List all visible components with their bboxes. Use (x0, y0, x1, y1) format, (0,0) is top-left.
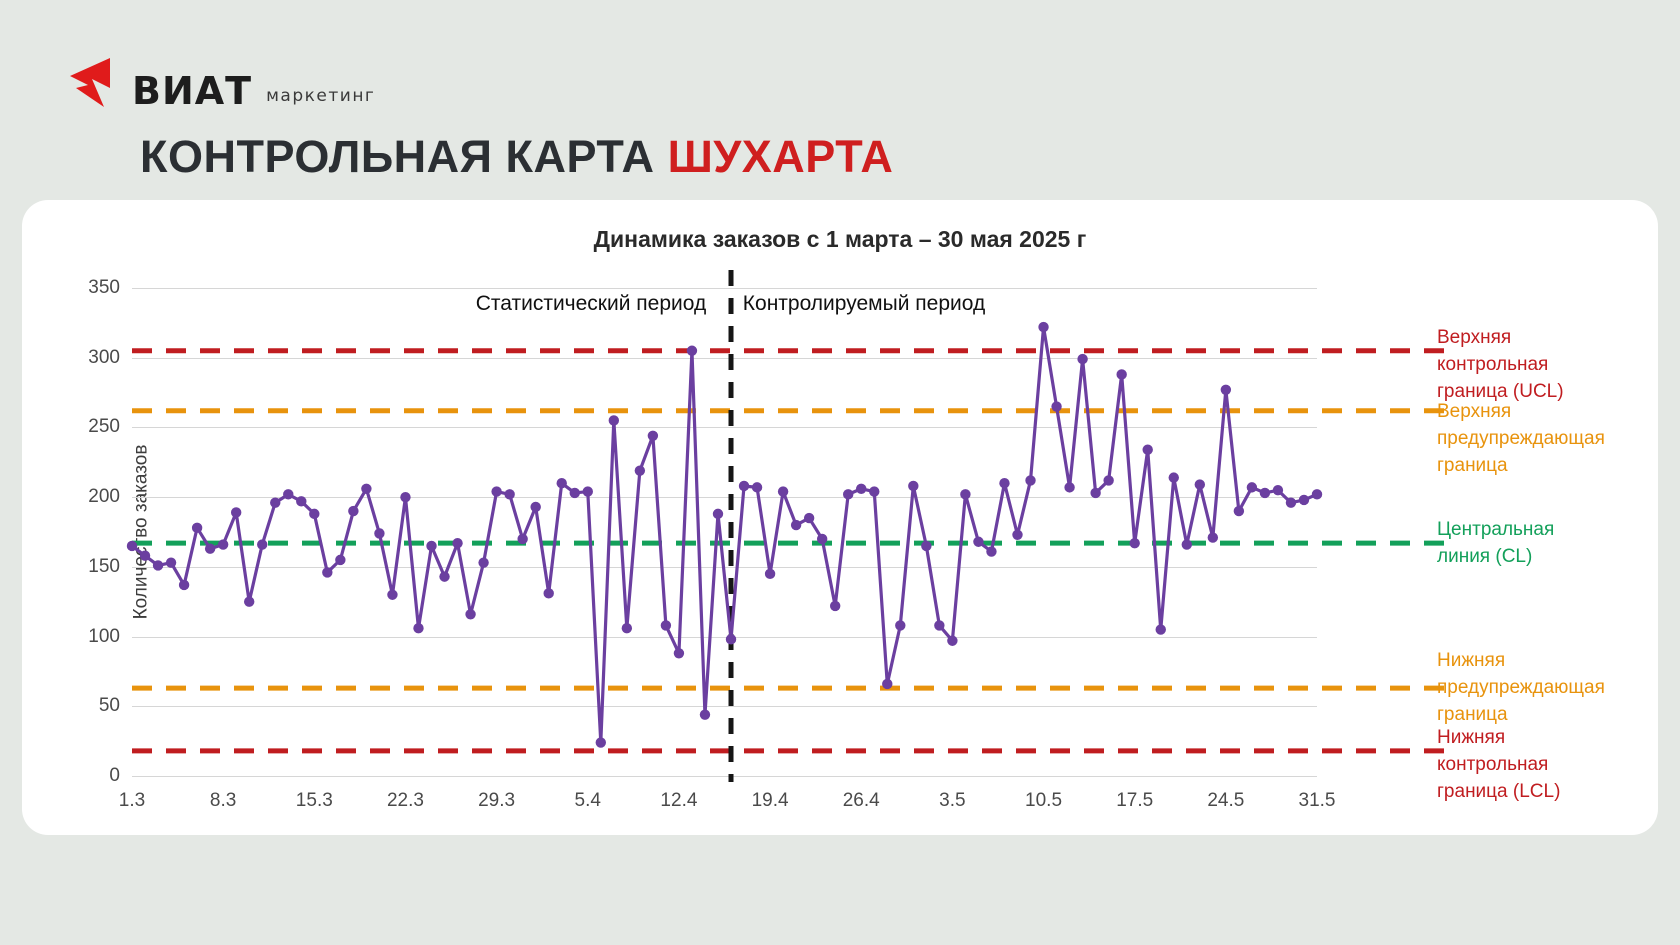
data-point (1299, 495, 1309, 505)
data-point (1143, 445, 1153, 455)
x-axis-tick: 3.5 (939, 790, 965, 812)
data-point (674, 648, 684, 658)
y-axis-tick: 350 (88, 277, 120, 299)
brand-logo: ВИАТ маркетинг (66, 58, 375, 114)
data-point (361, 484, 371, 494)
data-point (1312, 489, 1322, 499)
legend-lcl-line1: Нижняя (1437, 725, 1649, 752)
data-point (1182, 539, 1192, 549)
data-point (192, 523, 202, 533)
data-point (270, 498, 280, 508)
data-point (622, 623, 632, 633)
data-point (557, 478, 567, 488)
data-point (570, 488, 580, 498)
y-axis-tick: 0 (109, 765, 120, 787)
data-point (609, 415, 619, 425)
data-point (153, 560, 163, 570)
data-point (700, 709, 710, 719)
legend-lwl-line2: предупреждающая (1437, 675, 1649, 702)
data-point (1064, 482, 1074, 492)
x-axis-tick: 22.3 (387, 790, 424, 812)
x-axis-tick: 12.4 (660, 790, 697, 812)
data-point (544, 588, 554, 598)
data-point (296, 496, 306, 506)
data-point (166, 557, 176, 567)
legend-item-upper-warning: Верхняя предупреждающая граница (1437, 399, 1649, 480)
data-point (1156, 624, 1166, 634)
y-axis-tick: 200 (88, 486, 120, 508)
page-title-part1: КОНТРОЛЬНАЯ КАРТА (140, 131, 655, 182)
data-point (257, 539, 267, 549)
y-axis-tick: 300 (88, 347, 120, 369)
data-point (1273, 485, 1283, 495)
data-point (999, 478, 1009, 488)
data-point (244, 597, 254, 607)
data-point (504, 489, 514, 499)
data-point (465, 609, 475, 619)
data-point (348, 506, 358, 516)
data-point (127, 541, 137, 551)
x-axis-tick: 19.4 (752, 790, 789, 812)
data-point (908, 481, 918, 491)
data-point (335, 555, 345, 565)
data-point (439, 571, 449, 581)
data-point (426, 541, 436, 551)
data-point (231, 507, 241, 517)
legend-item-lower-warning: Нижняя предупреждающая граница (1437, 648, 1649, 729)
data-point (752, 482, 762, 492)
x-axis-tick: 5.4 (575, 790, 601, 812)
data-point (283, 489, 293, 499)
viat-arrow-logo-icon (66, 58, 126, 114)
x-axis-tick: 29.3 (478, 790, 515, 812)
data-point (452, 538, 462, 548)
legend-lwl-line1: Нижняя (1437, 648, 1649, 675)
data-point (374, 528, 384, 538)
data-point (1286, 498, 1296, 508)
legend-item-center-line: Центральная линия (CL) (1437, 517, 1649, 571)
data-point (1129, 538, 1139, 548)
legend-item-lcl: Нижняя контрольная граница (LCL) (1437, 725, 1649, 806)
data-point (322, 567, 332, 577)
data-point (921, 541, 931, 551)
brand-tagline: маркетинг (266, 86, 375, 106)
data-point (1234, 506, 1244, 516)
data-point (856, 484, 866, 494)
data-point (140, 551, 150, 561)
data-point (765, 569, 775, 579)
legend-cl-line1: Центральная (1437, 517, 1649, 544)
y-axis-tick: 100 (88, 626, 120, 648)
x-axis-tick: 8.3 (210, 790, 236, 812)
gridline (132, 776, 1317, 777)
data-point (1247, 482, 1257, 492)
data-point (309, 509, 319, 519)
data-point (869, 486, 879, 496)
x-axis-tick: 15.3 (296, 790, 333, 812)
chart-card: Динамика заказов с 1 марта – 30 мая 2025… (22, 200, 1658, 835)
data-point (478, 557, 488, 567)
data-point (1051, 401, 1061, 411)
data-point (739, 481, 749, 491)
control-chart-plot: Количество заказов Статистический период… (132, 288, 1317, 776)
data-point (1103, 475, 1113, 485)
slide-root: ВИАТ маркетинг КОНТРОЛЬНАЯ КАРТА ШУХАРТА… (0, 0, 1680, 945)
data-point (687, 346, 697, 356)
brand-name: ВИАТ (132, 72, 252, 110)
series-line-orders (132, 327, 1317, 742)
chart-title: Динамика заказов с 1 марта – 30 мая 2025… (22, 226, 1658, 253)
data-point (413, 623, 423, 633)
data-point (661, 620, 671, 630)
x-axis-tick: 24.5 (1207, 790, 1244, 812)
data-point (530, 502, 540, 512)
page-title: КОНТРОЛЬНАЯ КАРТА ШУХАРТА (140, 131, 893, 183)
data-point (387, 590, 397, 600)
data-point (1221, 385, 1231, 395)
data-point (1208, 532, 1218, 542)
data-point (934, 620, 944, 630)
data-point (1169, 472, 1179, 482)
data-point (986, 546, 996, 556)
data-point (179, 580, 189, 590)
data-point (218, 539, 228, 549)
data-point (830, 601, 840, 611)
legend-uwl-line1: Верхняя (1437, 399, 1649, 426)
data-point (1195, 479, 1205, 489)
x-axis-tick: 26.4 (843, 790, 880, 812)
data-point (791, 520, 801, 530)
data-point (1077, 354, 1087, 364)
data-point (713, 509, 723, 519)
legend-uwl-line2: предупреждающая (1437, 426, 1649, 453)
chart-canvas (132, 288, 1317, 776)
data-point (843, 489, 853, 499)
data-point (648, 431, 658, 441)
page-title-accent: ШУХАРТА (668, 131, 894, 182)
data-point (1260, 488, 1270, 498)
data-point (882, 679, 892, 689)
legend-uwl-line3: граница (1437, 453, 1649, 480)
y-axis-tick: 250 (88, 416, 120, 438)
x-axis-tick: 10.5 (1025, 790, 1062, 812)
data-point (726, 634, 736, 644)
data-point (400, 492, 410, 502)
data-point (635, 465, 645, 475)
data-point (517, 534, 527, 544)
x-axis-tick: 31.5 (1299, 790, 1336, 812)
x-axis-tick: 1.3 (119, 790, 145, 812)
data-point (947, 636, 957, 646)
legend-lcl-line3: граница (LCL) (1437, 779, 1649, 806)
legend-ucl-line1: Верхняя (1437, 325, 1649, 352)
legend-item-ucl: Верхняя контрольная граница (UCL) (1437, 325, 1649, 406)
data-point (1038, 322, 1048, 332)
data-point (778, 486, 788, 496)
data-point (804, 513, 814, 523)
data-point (491, 486, 501, 496)
legend-ucl-line2: контрольная (1437, 352, 1649, 379)
x-axis-tick: 17.5 (1116, 790, 1153, 812)
data-point (1116, 369, 1126, 379)
data-point (1090, 488, 1100, 498)
data-point (583, 486, 593, 496)
y-axis-tick: 150 (88, 556, 120, 578)
y-axis-tick: 50 (99, 695, 120, 717)
legend-cl-line2: линия (CL) (1437, 544, 1649, 571)
data-point (1025, 475, 1035, 485)
legend-lcl-line2: контрольная (1437, 752, 1649, 779)
data-point (817, 534, 827, 544)
data-point (973, 537, 983, 547)
data-point (596, 737, 606, 747)
data-point (205, 544, 215, 554)
data-point (895, 620, 905, 630)
data-point (1012, 530, 1022, 540)
data-point (960, 489, 970, 499)
